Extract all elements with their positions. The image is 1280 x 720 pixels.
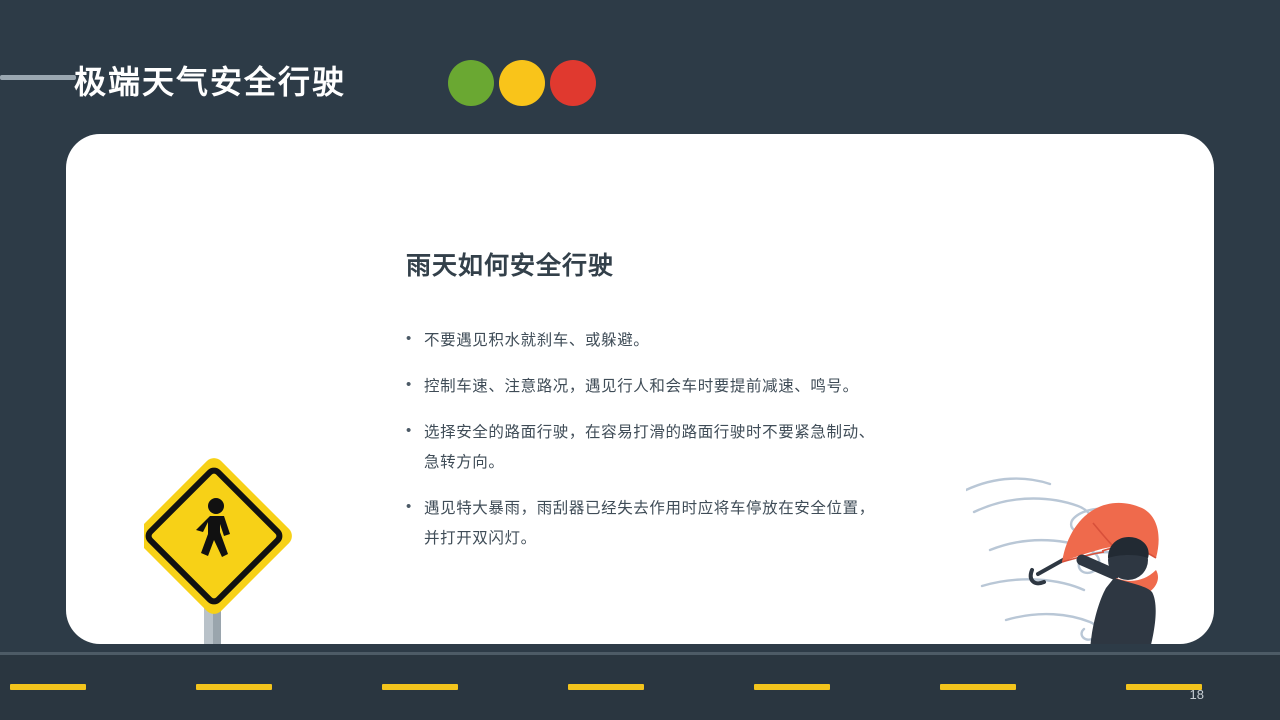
card-heading: 雨天如何安全行驶 <box>406 246 614 282</box>
person-with-umbrella-illustration <box>966 454 1214 644</box>
road-dash <box>568 684 644 690</box>
bullet-list: • 不要遇见积水就刹车、或躲避。 • 控制车速、注意路况，遇见行人和会车时要提前… <box>406 326 1006 570</box>
road-dash <box>382 684 458 690</box>
pedestrian-crossing-sign <box>144 454 304 644</box>
page-title: 极端天气安全行驶 <box>74 57 346 103</box>
list-item: • 选择安全的路面行驶，在容易打滑的路面行驶时不要紧急制动、 急转方向。 <box>406 418 1006 478</box>
slide-canvas: 极端天气安全行驶 雨天如何安全行驶 • 不要遇见积水就刹车、或躲避。 • 控制车… <box>0 0 1280 720</box>
road-strip <box>0 652 1280 720</box>
bullet-marker: • <box>406 418 424 444</box>
yellow-light <box>499 60 545 106</box>
content-card: 雨天如何安全行驶 • 不要遇见积水就刹车、或躲避。 • 控制车速、注意路况，遇见… <box>66 134 1214 644</box>
bullet-marker: • <box>406 372 424 398</box>
list-item: • 遇见特大暴雨，雨刮器已经失去作用时应将车停放在安全位置， 并打开双闪灯。 <box>406 494 1006 554</box>
page-number: 18 <box>1190 687 1204 702</box>
list-item-text: 不要遇见积水就刹车、或躲避。 <box>424 326 649 356</box>
list-item-text: 选择安全的路面行驶，在容易打滑的路面行驶时不要紧急制动、 急转方向。 <box>424 418 875 478</box>
green-light <box>448 60 494 106</box>
list-item-text: 控制车速、注意路况，遇见行人和会车时要提前减速、鸣号。 <box>424 372 859 402</box>
list-item: • 控制车速、注意路况，遇见行人和会车时要提前减速、鸣号。 <box>406 372 1006 402</box>
road-edge-line <box>0 652 1280 655</box>
bullet-marker: • <box>406 494 424 520</box>
road-dash <box>940 684 1016 690</box>
title-rule <box>0 75 76 80</box>
road-dash <box>754 684 830 690</box>
road-dashes <box>0 684 1280 690</box>
road-dash <box>10 684 86 690</box>
road-dash <box>196 684 272 690</box>
bullet-marker: • <box>406 326 424 352</box>
traffic-light-group <box>448 60 596 106</box>
red-light <box>550 60 596 106</box>
list-item-text: 遇见特大暴雨，雨刮器已经失去作用时应将车停放在安全位置， 并打开双闪灯。 <box>424 494 875 554</box>
list-item: • 不要遇见积水就刹车、或躲避。 <box>406 326 1006 356</box>
